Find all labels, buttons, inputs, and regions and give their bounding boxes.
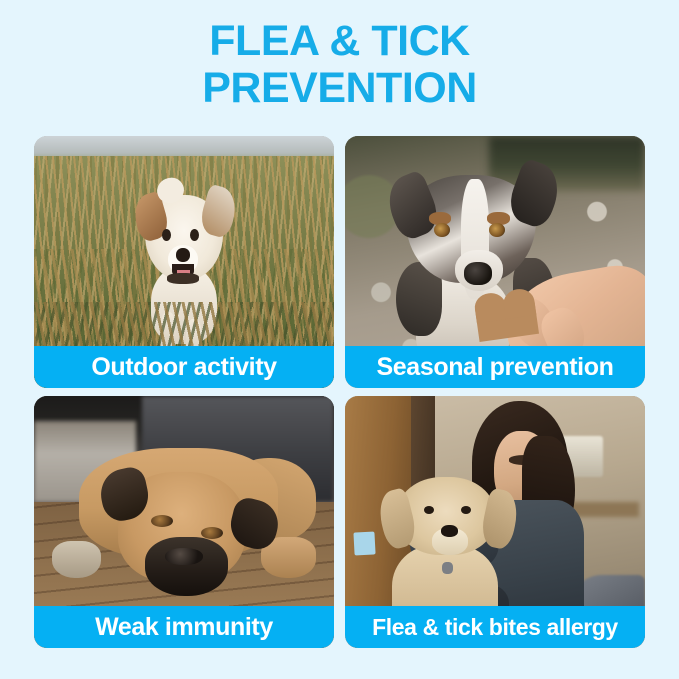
dog-eye-right (489, 223, 505, 237)
dog-eye-left (151, 515, 173, 527)
card-flea-tick-bites-allergy[interactable]: Flea & tick bites allergy (345, 396, 645, 648)
card-caption: Seasonal prevention (345, 346, 645, 388)
sticky-note (353, 532, 375, 556)
page-title-line-1: FLEA & TICK (0, 18, 679, 65)
dog-nose (441, 525, 458, 537)
dog-muzzle (145, 537, 228, 595)
page-title: FLEA & TICK PREVENTION (0, 18, 679, 112)
card-outdoor-activity[interactable]: Outdoor activity (34, 136, 334, 388)
card-weak-immunity[interactable]: Weak immunity (34, 396, 334, 648)
card-caption: Weak immunity (34, 606, 334, 648)
card-seasonal-prevention[interactable]: Seasonal prevention (345, 136, 645, 388)
pug-dog (46, 441, 322, 612)
dog-collar (167, 273, 200, 284)
dog-nose (165, 548, 204, 565)
page-title-line-2: PREVENTION (0, 65, 679, 112)
infographic-poster: FLEA & TICK PREVENTION (0, 0, 679, 679)
dog-eye-left (434, 223, 450, 237)
dog-paw-left (52, 541, 102, 579)
dog-eye-left (162, 229, 171, 241)
card-caption: Outdoor activity (34, 346, 334, 388)
dog-nose (464, 262, 492, 285)
card-caption: Flea & tick bites allergy (345, 606, 645, 648)
card-grid: Outdoor activity (34, 136, 645, 648)
dog-collar-tag (442, 562, 453, 574)
